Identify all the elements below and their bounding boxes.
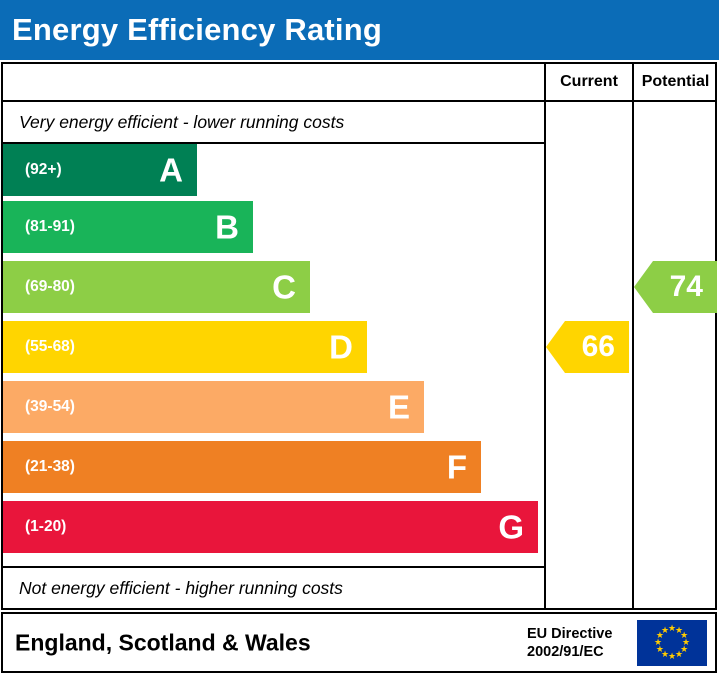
band-f-range: (21-38)	[3, 458, 75, 476]
page-title: Energy Efficiency Rating	[0, 12, 382, 48]
band-e-letter: E	[388, 391, 410, 424]
current-rating-value: 66	[582, 330, 615, 364]
band-a-letter: A	[159, 154, 183, 187]
band-d-letter: D	[329, 331, 353, 364]
potential-arrow-point	[634, 261, 653, 313]
band-b: (81-91) B	[3, 201, 253, 253]
column-header-potential: Potential	[634, 64, 717, 100]
caption-inefficient: Not energy efficient - higher running co…	[3, 568, 544, 608]
column-header-current: Current	[546, 64, 632, 100]
current-arrow-point	[546, 321, 565, 373]
band-g-letter: G	[498, 511, 524, 544]
chart-frame: Current Potential Very energy efficient …	[1, 62, 717, 610]
band-c-letter: C	[272, 271, 296, 304]
eu-flag-star: ★	[661, 626, 670, 635]
column-header-row: Current Potential	[3, 64, 715, 102]
rating-bands: (92+) A (81-91) B (69-80) C (55-68) D (3…	[3, 144, 544, 566]
column-divider-2	[632, 64, 634, 608]
band-d-range: (55-68)	[3, 338, 75, 356]
band-g: (1-20) G	[3, 501, 538, 553]
chart-footer: England, Scotland & Wales EU Directive 2…	[1, 612, 717, 673]
band-f-letter: F	[447, 451, 467, 484]
caption-efficient: Very energy efficient - lower running co…	[3, 102, 544, 142]
potential-rating-value: 74	[670, 270, 703, 304]
footer-directive: EU Directive 2002/91/EC	[527, 624, 612, 660]
band-c-range: (69-80)	[3, 278, 75, 296]
potential-rating-arrow: 74	[653, 261, 717, 313]
footer-directive-line1: EU Directive	[527, 624, 612, 642]
band-g-range: (1-20)	[3, 518, 66, 536]
band-d: (55-68) D	[3, 321, 367, 373]
band-e: (39-54) E	[3, 381, 424, 433]
band-e-range: (39-54)	[3, 398, 75, 416]
band-a: (92+) A	[3, 144, 197, 196]
band-b-range: (81-91)	[3, 218, 75, 236]
band-a-range: (92+)	[3, 161, 62, 179]
band-c: (69-80) C	[3, 261, 310, 313]
chart-title-bar: Energy Efficiency Rating	[0, 0, 719, 60]
footer-directive-line2: 2002/91/EC	[527, 643, 612, 661]
band-b-letter: B	[215, 211, 239, 244]
epc-chart: Energy Efficiency Rating Current Potenti…	[0, 0, 719, 675]
eu-flag-icon: ★★★★★★★★★★★★	[637, 620, 707, 666]
current-rating-arrow: 66	[565, 321, 629, 373]
footer-region-label: England, Scotland & Wales	[15, 629, 311, 656]
band-f: (21-38) F	[3, 441, 481, 493]
